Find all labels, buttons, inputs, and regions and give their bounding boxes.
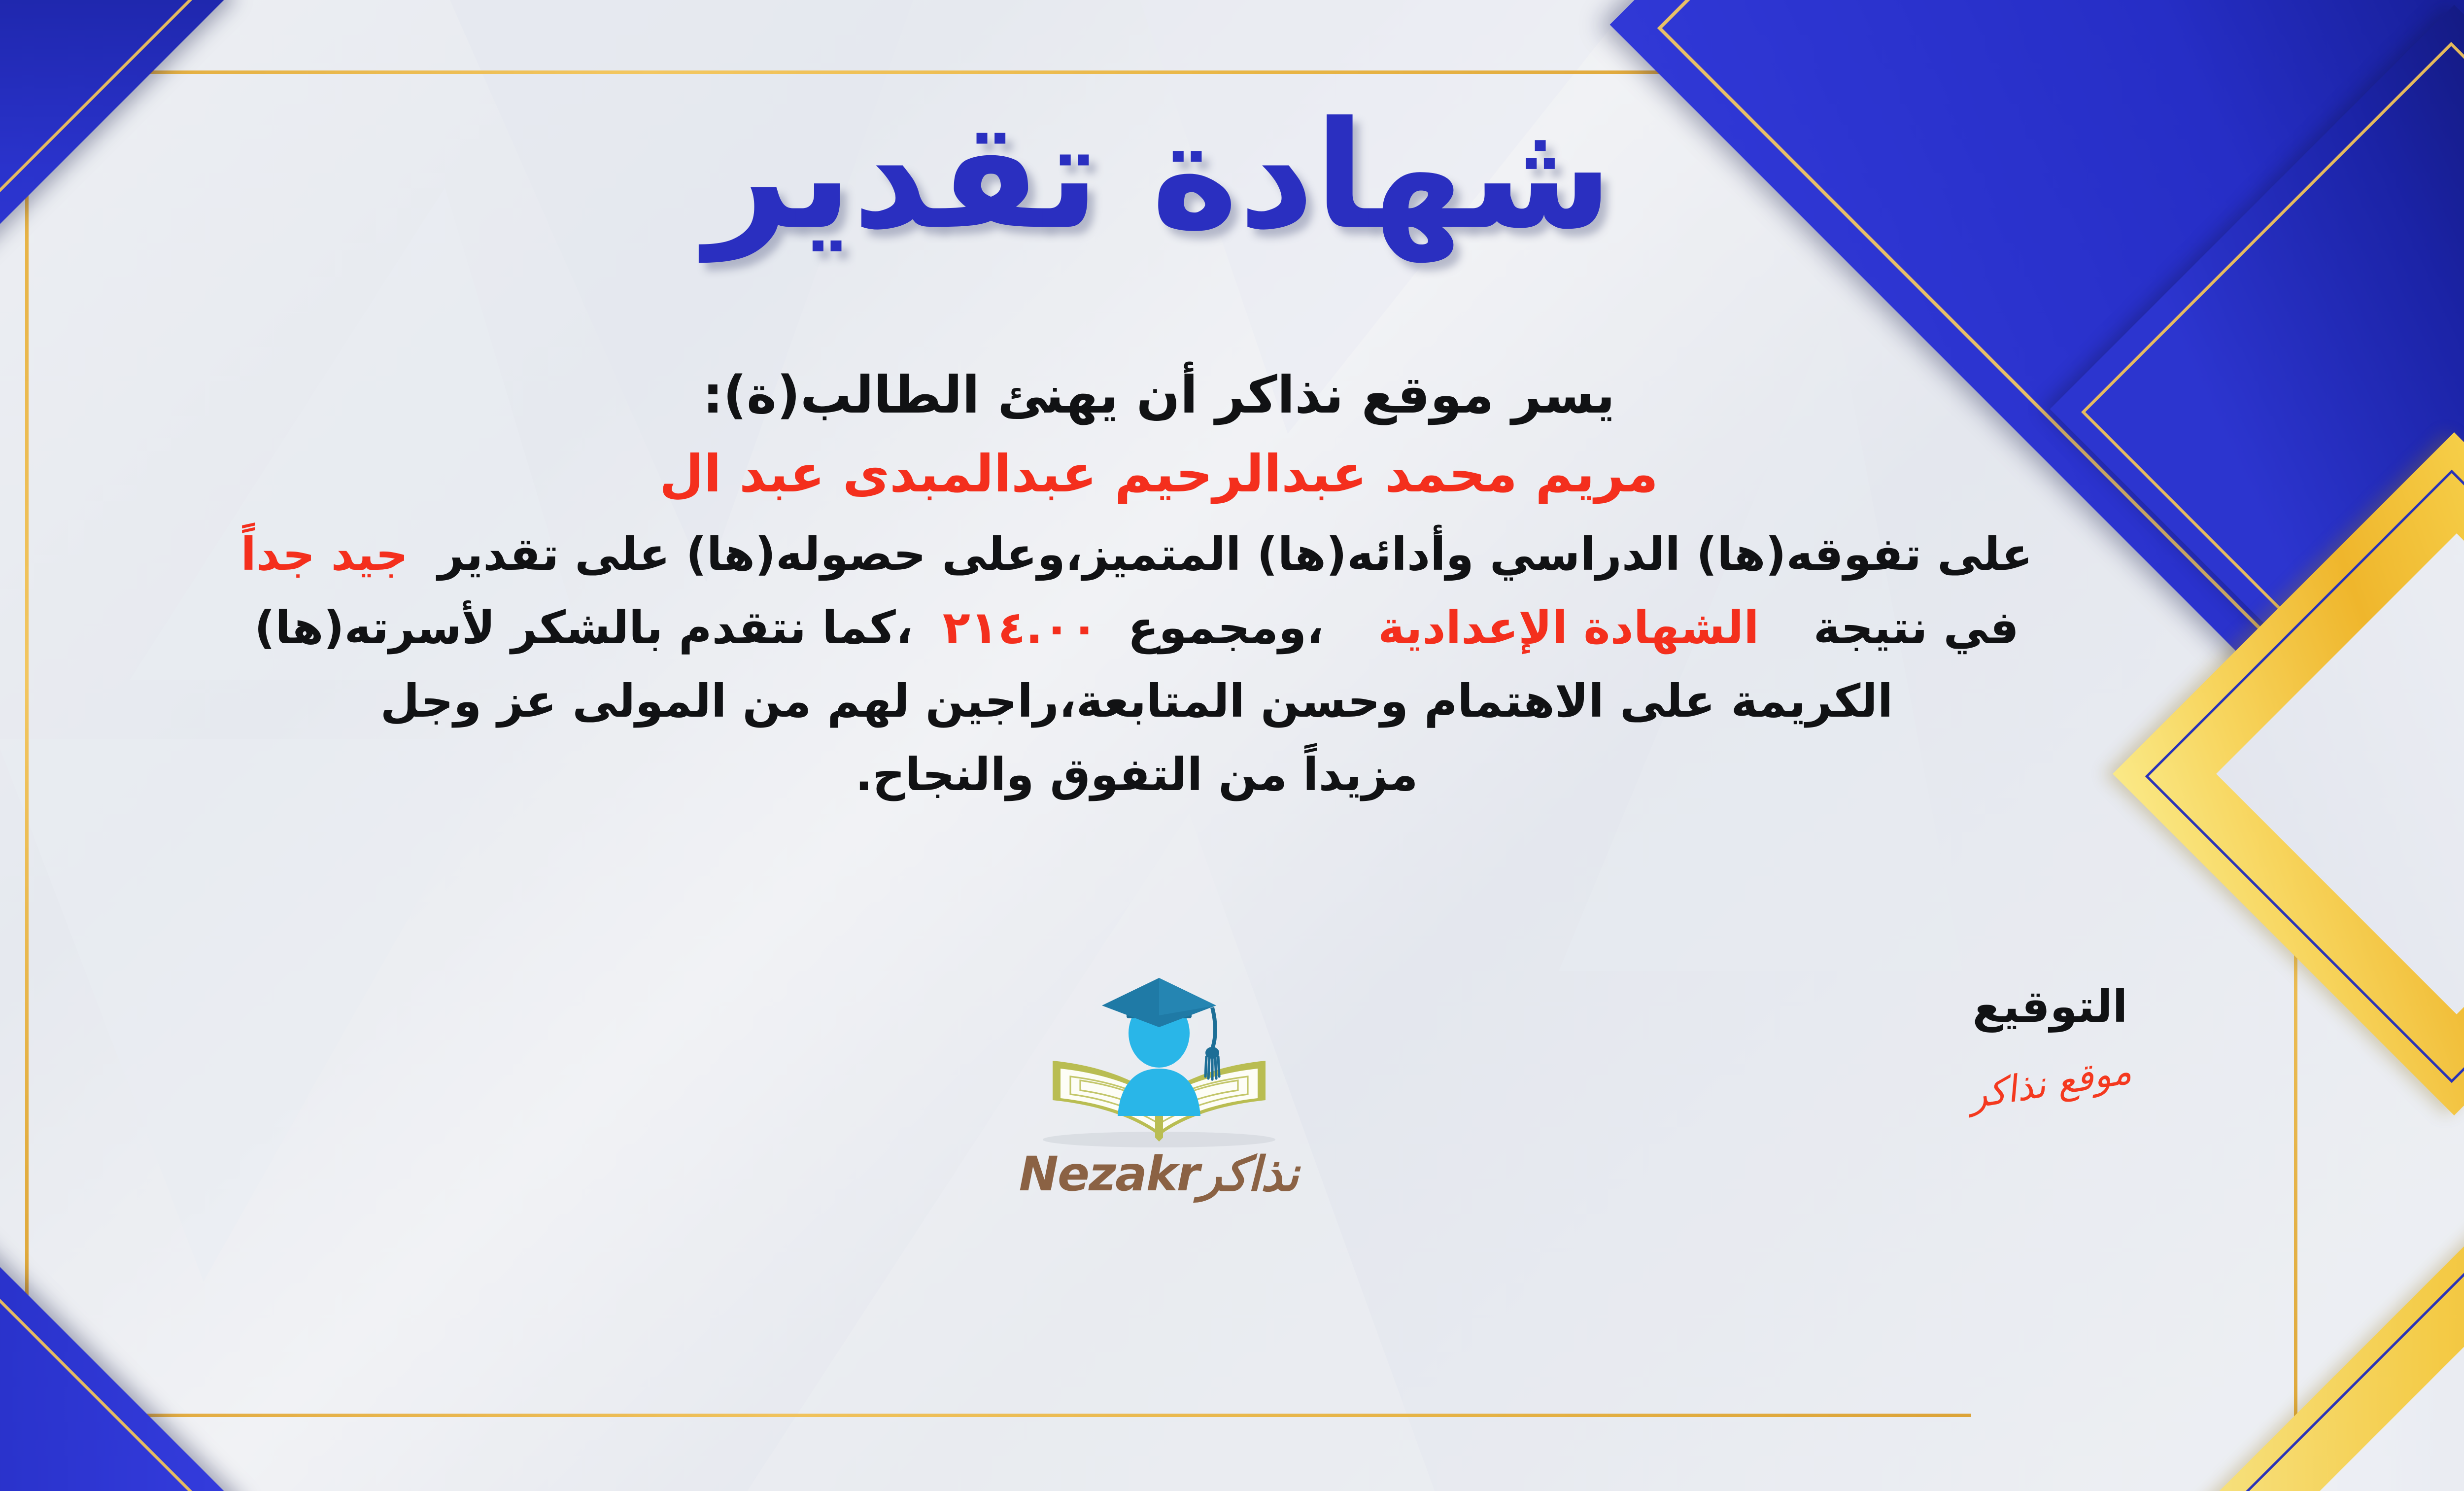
exam-name: الشهادة الإعدادية	[1378, 601, 1759, 654]
logo-latin: Nezakr	[1019, 1146, 1199, 1202]
top-left-notch	[0, 0, 13, 179]
body-line-2-middle: ،ومجموع	[1128, 601, 1324, 654]
grade-value: جيد جداً	[240, 528, 408, 581]
gold-frame-right	[2294, 207, 2297, 1417]
bottom-left-notch	[0, 1312, 13, 1491]
graduate-book-icon	[1001, 966, 1317, 1163]
brand-logo: نذاكرNezakr	[41, 966, 2277, 1202]
body-line-2-prefix: في نتيجة	[1814, 601, 2019, 654]
bottom-right-gold-notch	[2280, 1307, 2464, 1491]
greeting-line: يسر موقع نذاكر أن يهنئ الطالب(ة):	[41, 365, 2277, 425]
logo-arabic: نذاكر	[1199, 1146, 1299, 1202]
gold-frame-bottom	[0, 1414, 1971, 1417]
body-line-1: على تفوقه(ها) الدراسي وأدائه(ها) المتميز…	[0, 518, 2292, 591]
certificate-content: شهادة تقدير يسر موقع نذاكر أن يهنئ الطال…	[41, 74, 2277, 1412]
certificate-page: شهادة تقدير يسر موقع نذاكر أن يهنئ الطال…	[0, 0, 2464, 1491]
certificate-body: على تفوقه(ها) الدراسي وأدائه(ها) المتميز…	[0, 518, 2292, 811]
body-line-3: الكريمة على الاهتمام وحسن المتابعة،راجين…	[0, 664, 2292, 738]
body-line-2-suffix: ،كما نتقدم بالشكر لأسرته(ها)	[254, 601, 913, 654]
certificate-title: شهادة تقدير	[41, 89, 2277, 263]
body-line-4: مزيداً من التفوق والنجاح.	[0, 738, 2292, 811]
gold-frame-top	[26, 70, 1804, 74]
student-name: مريم محمد عبدالرحيم عبدالمبدى عبد ال	[41, 444, 2277, 504]
body-line-1-text: على تفوقه(ها) الدراسي وأدائه(ها) المتميز…	[438, 528, 2032, 581]
total-score: ٢١٤.٠٠	[943, 601, 1098, 654]
logo-wordmark: نذاكرNezakr	[1019, 1146, 1299, 1202]
body-line-2: في نتيجةالشهادة الإعدادية،ومجموع٢١٤.٠٠،ك…	[0, 591, 2292, 664]
